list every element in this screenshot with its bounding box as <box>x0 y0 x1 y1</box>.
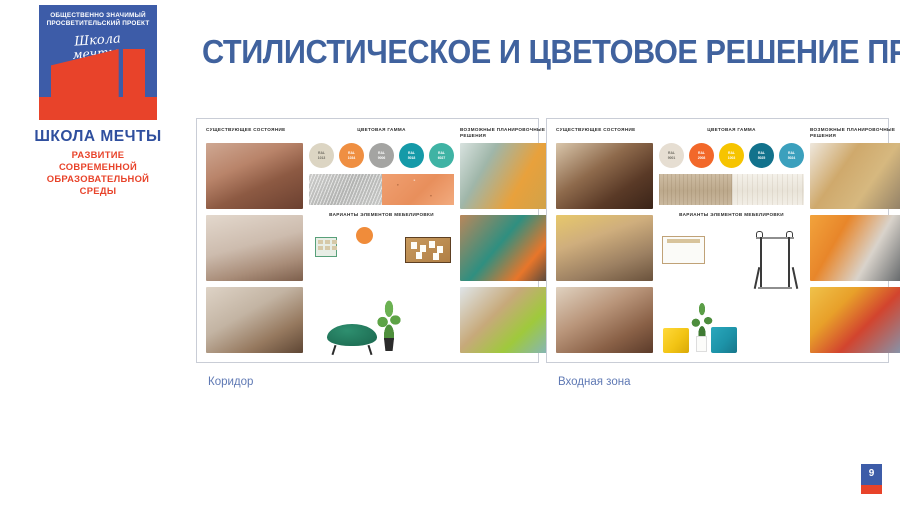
logo-subtitle-line1: РАЗВИТИЕ СОВРЕМЕННОЙ <box>33 149 163 173</box>
existing-state-column-left: СУЩЕСТВУЮЩЕЕ СОСТОЯНИЕ <box>206 127 303 359</box>
page-number: 9 <box>869 468 875 479</box>
material-swatch-row-left <box>309 174 454 205</box>
material-swatch <box>382 174 455 205</box>
ral-swatch-row-left: RAL 1013 RAL 1034 RAL 9006 RAL 5018 RAL <box>309 143 454 168</box>
existing-photo <box>206 287 303 353</box>
existing-photo <box>556 287 653 353</box>
solution-photo <box>810 215 900 281</box>
ottoman-leg <box>332 345 337 355</box>
page-title: СТИЛИСТИЧЕСКОЕ И ЦВЕТОВОЕ РЕШЕНИЕ ПРОЕКТ… <box>202 33 816 71</box>
plant-pot-icon <box>383 338 395 351</box>
logo-tagline-line2: ПРОСВЕТИТЕЛЬСКИЙ ПРОЕКТ <box>39 20 157 28</box>
ral-swatch-row-right: RAL 9001 RAL 2008 RAL 1003 RAL 5025 RAL <box>659 143 804 168</box>
furniture-header-right: ВАРИАНТЫ ЭЛЕМЕНТОВ МЕБЕЛИРОВКИ <box>659 212 804 217</box>
palette-header-right: ЦВЕТОВАЯ ГАММА <box>659 127 804 143</box>
logo-flag-graphic: ОБЩЕСТВЕННО ЗНАЧИМЫЙ ПРОСВЕТИТЕЛЬСКИЙ ПР… <box>39 5 157 120</box>
info-stand-icon <box>315 237 337 257</box>
ral-swatch: RAL 1003 <box>719 143 744 168</box>
whiteboard-header-bar <box>667 239 700 243</box>
ral-swatch: RAL 5018 <box>399 143 424 168</box>
solutions-column-left: ВОЗМОЖНЫЕ ПЛАНИРОВОЧНЫЕ РЕШЕНИЯ <box>460 127 557 359</box>
palette-column-right: ЦВЕТОВАЯ ГАММА RAL 9001 RAL 2008 RAL 100… <box>659 127 804 359</box>
existing-photo <box>556 143 653 209</box>
material-swatch <box>732 174 805 205</box>
ral-swatch: RAL 6027 <box>429 143 454 168</box>
material-swatch <box>659 174 732 205</box>
logo-divider-left <box>39 49 51 97</box>
plant-icon <box>688 303 716 337</box>
green-ottoman-icon <box>327 324 377 346</box>
ral-swatch: RAL 1034 <box>339 143 364 168</box>
solution-photo <box>460 215 557 281</box>
ral-swatch: RAL 1013 <box>309 143 334 168</box>
cork-board-icon <box>405 237 451 263</box>
logo-title: ШКОЛА МЕЧТЫ <box>33 128 163 146</box>
furniture-illustration-left <box>309 221 454 359</box>
logo-subtitle-line2: ОБРАЗОВАТЕЛЬНОЙ СРЕДЫ <box>33 173 163 197</box>
brand-logo: ОБЩЕСТВЕННО ЗНАЧИМЫЙ ПРОСВЕТИТЕЛЬСКИЙ ПР… <box>33 5 163 197</box>
logo-subtitle: РАЗВИТИЕ СОВРЕМЕННОЙ ОБРАЗОВАТЕЛЬНОЙ СРЕ… <box>33 149 163 197</box>
solution-photo <box>460 287 557 353</box>
ral-swatch: RAL 9001 <box>659 143 684 168</box>
caption-corridor: Коридор <box>208 376 253 388</box>
caption-entrance-zone: Входная зона <box>558 376 630 388</box>
orange-circle-icon <box>356 227 373 244</box>
panel-corridor: СУЩЕСТВУЮЩЕЕ СОСТОЯНИЕ ЦВЕТОВАЯ ГАММА RA… <box>196 118 539 363</box>
solution-photo <box>460 143 557 209</box>
plant-icon <box>373 300 405 340</box>
existing-state-column-right: СУЩЕСТВУЮЩЕЕ СОСТОЯНИЕ <box>556 127 653 359</box>
solution-photo <box>810 287 900 353</box>
coat-rack-icon <box>752 229 798 291</box>
furniture-illustration-right <box>659 221 804 359</box>
solution-photo <box>810 143 900 209</box>
ottoman-leg <box>368 345 373 355</box>
page-number-badge: 9 <box>861 464 882 494</box>
material-swatch-row-right <box>659 174 804 205</box>
panel-entrance-zone: СУЩЕСТВУЮЩЕЕ СОСТОЯНИЕ ЦВЕТОВАЯ ГАММА RA… <box>546 118 889 363</box>
solutions-column-right: ВОЗМОЖНЫЕ ПЛАНИРОВОЧНЫЕ РЕШЕНИЯ <box>810 127 900 359</box>
logo-base-bar <box>39 97 157 120</box>
ral-swatch: RAL 2008 <box>689 143 714 168</box>
yellow-cube-pouf-icon <box>663 328 689 353</box>
solutions-header-right: ВОЗМОЖНЫЕ ПЛАНИРОВОЧНЫЕ РЕШЕНИЯ <box>810 127 900 143</box>
palette-header-left: ЦВЕТОВАЯ ГАММА <box>309 127 454 143</box>
logo-divider-right <box>145 49 157 97</box>
existing-photo <box>206 143 303 209</box>
logo-tagline: ОБЩЕСТВЕННО ЗНАЧИМЫЙ ПРОСВЕТИТЕЛЬСКИЙ ПР… <box>39 12 157 29</box>
logo-house-icon-right <box>123 49 145 97</box>
ral-swatch: RAL 5024 <box>779 143 804 168</box>
existing-state-header-right: СУЩЕСТВУЮЩЕЕ СОСТОЯНИЕ <box>556 127 653 143</box>
solutions-header-left: ВОЗМОЖНЫЕ ПЛАНИРОВОЧНЫЕ РЕШЕНИЯ <box>460 127 557 143</box>
ral-swatch: RAL 5025 <box>749 143 774 168</box>
material-swatch <box>309 174 382 205</box>
whiteboard-icon <box>662 236 705 264</box>
ral-swatch: RAL 9006 <box>369 143 394 168</box>
existing-state-header-left: СУЩЕСТВУЮЩЕЕ СОСТОЯНИЕ <box>206 127 303 143</box>
palette-column-left: ЦВЕТОВАЯ ГАММА RAL 1013 RAL 1034 RAL 900… <box>309 127 454 359</box>
existing-photo <box>556 215 653 281</box>
furniture-header-left: ВАРИАНТЫ ЭЛЕМЕНТОВ МЕБЕЛИРОВКИ <box>309 212 454 217</box>
plant-pot-icon <box>696 336 707 352</box>
existing-photo <box>206 215 303 281</box>
